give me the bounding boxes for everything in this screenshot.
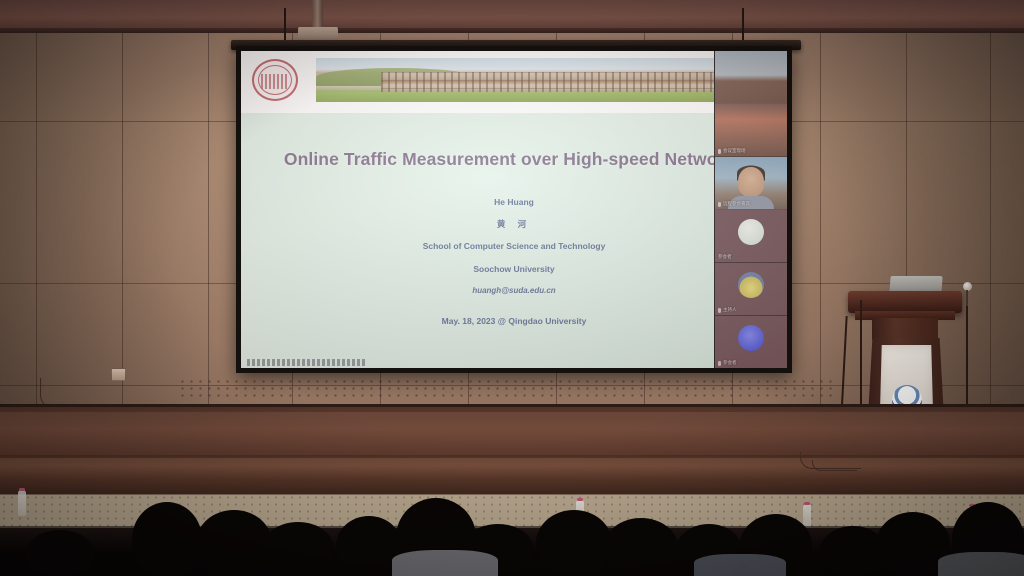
university-seal-icon	[252, 59, 298, 101]
water-bottle	[18, 490, 26, 516]
video-tile-label: 远程参会嘉宾	[718, 201, 750, 207]
slide-title: Online Traffic Measurement over High-spe…	[241, 149, 787, 170]
video-tile-name: 主持人	[723, 307, 737, 313]
slide-footer	[247, 359, 367, 366]
campus-building-panorama	[316, 58, 781, 102]
lectern-neck	[872, 318, 938, 340]
microphone-stem	[966, 290, 968, 306]
video-tile[interactable]: 参会者	[715, 210, 787, 263]
water-bottle	[803, 504, 811, 528]
video-tile[interactable]: 会议室现场	[715, 104, 787, 157]
projection-screen: Online Traffic Measurement over High-spe…	[236, 46, 792, 373]
audience-head	[196, 510, 272, 576]
acoustic-perforation-band	[178, 378, 838, 400]
video-tile[interactable]: 参会者	[715, 316, 787, 368]
bottle-cap	[19, 488, 25, 491]
video-tile-label: 主持人	[718, 307, 737, 313]
mic-muted-icon	[718, 308, 721, 313]
video-tile-label: 参会者	[718, 360, 737, 366]
dado-reflection	[0, 412, 1024, 452]
slide-header-band	[241, 51, 787, 113]
lectern-top	[848, 291, 962, 313]
video-tile-name: 参会者	[723, 360, 737, 366]
seal-text	[261, 74, 289, 89]
bottle-cap	[577, 498, 583, 501]
audience-head	[262, 522, 334, 576]
audience-head	[26, 530, 94, 576]
participant-face	[738, 167, 764, 197]
avatar	[738, 272, 764, 298]
mic-muted-icon	[718, 202, 721, 207]
lecture-hall-scene: Online Traffic Measurement over High-spe…	[0, 0, 1024, 576]
dado-trim	[0, 404, 1024, 407]
video-tile[interactable]: 远程参会嘉宾	[715, 157, 787, 210]
video-tile-name: 远程参会嘉宾	[723, 201, 750, 207]
conference-participant-strip[interactable]: 会议室现场 远程参会嘉宾 参会者	[714, 51, 787, 368]
avatar	[738, 325, 764, 351]
campus-building	[381, 72, 753, 93]
audience-head	[604, 518, 678, 576]
building-windows	[381, 72, 753, 93]
seated-audience	[0, 456, 1024, 576]
mic-muted-icon	[718, 149, 721, 154]
bottle-cap	[804, 502, 810, 505]
audience-shirt	[938, 552, 1024, 576]
mic-muted-icon	[718, 361, 721, 366]
projector-mount-pole	[312, 0, 323, 30]
audience-head	[132, 502, 202, 576]
slide-presenter-name-cn: 黄 河	[241, 218, 787, 230]
audience-shirt	[392, 550, 498, 576]
audience-head	[536, 510, 612, 576]
presentation-slide: Online Traffic Measurement over High-spe…	[241, 51, 787, 368]
screen-hanger	[284, 8, 286, 44]
video-tile[interactable]	[715, 51, 787, 104]
avatar	[738, 219, 764, 245]
campus-lawn	[316, 92, 781, 102]
video-tile-label: 参会者	[718, 254, 732, 260]
slide-date-venue: May. 18, 2023 @ Qingdao University	[241, 316, 787, 326]
audience-shirt	[694, 554, 786, 576]
slide-presenter-name: He Huang	[241, 197, 787, 207]
slide-email: huangh@suda.edu.cn	[241, 286, 787, 295]
video-tile[interactable]: 主持人	[715, 263, 787, 316]
screen-hanger	[742, 8, 744, 44]
slide-university: Soochow University	[241, 264, 787, 274]
video-tile-label: 会议室现场	[718, 148, 746, 154]
slide-department: School of Computer Science and Technolog…	[241, 241, 787, 251]
video-tile-name: 会议室现场	[723, 148, 746, 154]
